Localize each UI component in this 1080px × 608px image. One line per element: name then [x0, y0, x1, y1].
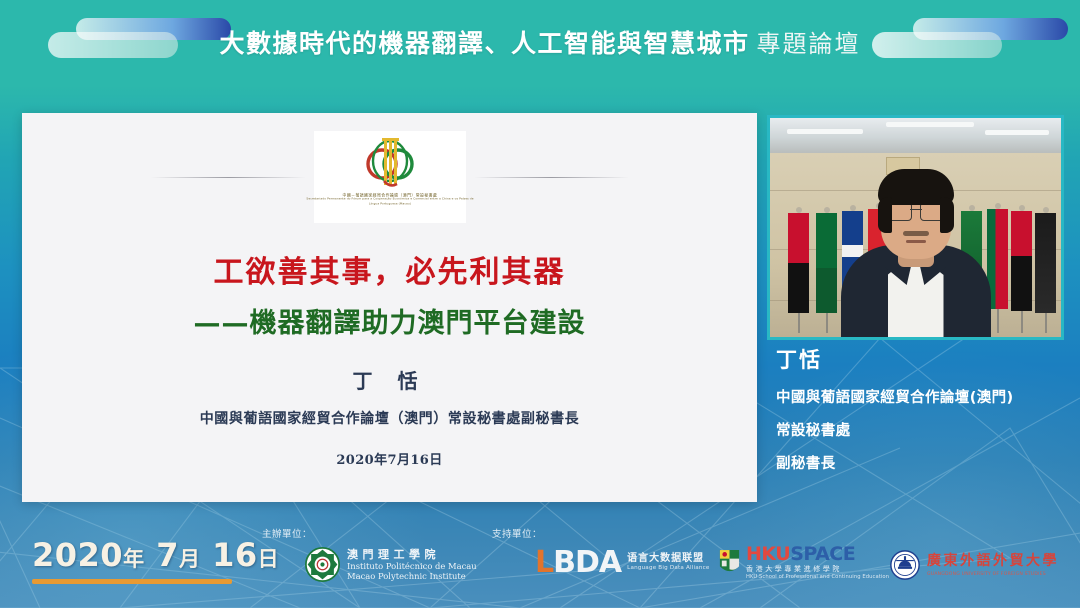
caption-line-2: 常設秘書處 — [776, 419, 1076, 440]
date-month: 7 — [156, 536, 179, 574]
forum-broadcast-screen: 大數據時代的機器翻譯、人工智能與智慧城市專題論壇 中國－葡語國家經貿合作論壇（澳… — [0, 0, 1080, 608]
slide-date: 2020年7月16日 — [22, 449, 757, 468]
hku-text: HKUSPACE 香港大學專業進修學院 HKU School of Profes… — [746, 545, 889, 580]
gdufs-name-en: GUANGDONG UNIVERSITY OF FOREIGN STUDIES — [927, 572, 1059, 578]
divider-right — [474, 177, 629, 178]
logo-hku-space: HKUSPACE 香港大學專業進修學院 HKU School of Profes… — [718, 545, 889, 580]
speaker-portrait — [841, 189, 991, 337]
flag-mozambique — [816, 213, 838, 333]
supporter-label: 支持單位： — [492, 526, 542, 540]
footer-bar: 2020年 7月 16日 主辦單位： 支持單位： 澳門理工學院 Institut… — [0, 502, 1080, 608]
forum-title: 大數據時代的機器翻譯、人工智能與智慧城市專題論壇 — [0, 24, 1080, 60]
forum-title-main: 大數據時代的機器翻譯、人工智能與智慧城市 — [219, 29, 749, 58]
gdufs-text: 廣東外語外貿大學 GUANGDONG UNIVERSITY OF FOREIGN… — [927, 552, 1059, 578]
hku-shield-icon — [718, 549, 741, 576]
slide-logo-row: 中國－葡語國家經貿合作論壇（澳門）常設秘書處 Secretariado Perm… — [22, 131, 757, 223]
date-year: 2020 — [32, 536, 123, 574]
slide-subtitle: ——機器翻譯助力澳門平台建設 — [22, 301, 757, 340]
slide-main-title: 工欲善其事，必先利其器 — [22, 247, 757, 291]
date-year-unit: 年 — [123, 547, 145, 571]
flag-timor-leste — [1035, 213, 1057, 333]
date-day-unit: 日 — [258, 547, 280, 571]
mpi-name-en: Macao Polytechnic Institute — [347, 571, 477, 581]
header-bar: 大數據時代的機器翻譯、人工智能與智慧城市專題論壇 — [0, 0, 1080, 92]
lbda-name-cn: 语言大数据联盟 — [627, 552, 709, 565]
lbda-wordmark: LBDA — [535, 548, 621, 578]
presentation-slide[interactable]: 中國－葡語國家經貿合作論壇（澳門）常設秘書處 Secretariado Perm… — [22, 113, 757, 502]
speaker-video-tile[interactable] — [767, 115, 1064, 340]
divider-left — [151, 177, 306, 178]
gdufs-seal-icon — [890, 550, 920, 580]
lbda-letters-bda: BDA — [553, 545, 621, 580]
mpi-name-cn: 澳門理工學院 — [347, 548, 477, 561]
slide-speaker-affiliation: 中國與葡語國家經貿合作論壇（澳門）常設秘書處副秘書長 — [22, 408, 757, 428]
forum-logo-caption-pt: Secretariado Permanente do Fórum para a … — [306, 197, 474, 206]
forum-title-suffix: 專題論壇 — [757, 30, 861, 58]
lbda-letter-l: L — [535, 545, 553, 580]
hku-letters: HKU — [746, 543, 790, 565]
mpi-seal-icon — [305, 547, 340, 582]
hku-wordmark: HKUSPACE — [746, 545, 889, 564]
mpi-name-pt: Instituto Politécnico de Macau — [347, 561, 477, 571]
lbda-name-en: Language Big Data Alliance — [627, 565, 709, 572]
hku-name-en: HKU School of Professional and Continuin… — [746, 574, 889, 581]
space-letters: SPACE — [790, 543, 855, 565]
mpi-text: 澳門理工學院 Instituto Politécnico de Macau Ma… — [347, 548, 477, 582]
logo-macao-polytechnic-institute: 澳門理工學院 Instituto Politécnico de Macau Ma… — [305, 547, 477, 582]
caption-line-1: 中國與葡語國家經貿合作論壇(澳門) — [776, 386, 1076, 407]
hku-name-cn: 香港大學專業進修學院 — [746, 565, 889, 574]
flag-guinea-bissau — [1011, 211, 1033, 333]
logo-gdufs: 廣東外語外貿大學 GUANGDONG UNIVERSITY OF FOREIGN… — [890, 550, 1059, 580]
video-ceiling — [770, 118, 1061, 153]
event-date: 2020年 7月 16日 — [32, 536, 279, 574]
speaker-caption: 丁恬 中國與葡語國家經貿合作論壇(澳門) 常設秘書處 副秘書長 — [776, 344, 1076, 473]
date-month-unit: 月 — [179, 547, 201, 571]
forum-macao-emblem-icon — [358, 134, 422, 190]
date-underline — [32, 579, 232, 584]
event-date-block: 2020年 7月 16日 — [32, 536, 279, 584]
flag-angola — [788, 213, 810, 333]
logo-lbda: LBDA 语言大数据联盟 Language Big Data Alliance — [535, 548, 710, 578]
forum-macao-logo: 中國－葡語國家經貿合作論壇（澳門）常設秘書處 Secretariado Perm… — [314, 131, 466, 223]
organizer-label: 主辦單位： — [262, 526, 312, 540]
date-day: 16 — [212, 536, 258, 574]
caption-line-3: 副秘書長 — [776, 452, 1076, 473]
slide-speaker-name: 丁 恬 — [22, 365, 757, 394]
gdufs-name-cn: 廣東外語外貿大學 — [927, 552, 1059, 570]
lbda-text: 语言大数据联盟 Language Big Data Alliance — [627, 552, 709, 574]
caption-speaker-name: 丁恬 — [776, 344, 1076, 374]
